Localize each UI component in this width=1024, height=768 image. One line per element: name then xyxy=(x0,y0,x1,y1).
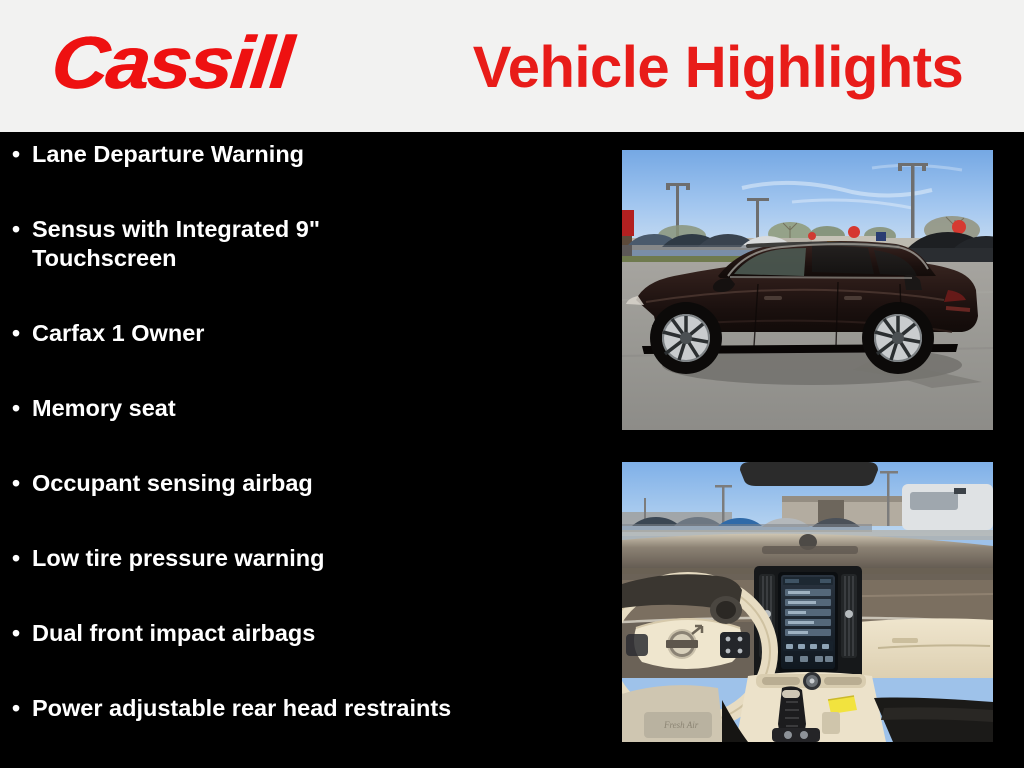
bullet-icon: • xyxy=(12,319,32,348)
list-item: • Memory seat xyxy=(0,394,600,423)
highlight-label: Carfax 1 Owner xyxy=(32,319,432,348)
vehicle-exterior-illustration xyxy=(622,150,993,430)
svg-text:Fresh Air: Fresh Air xyxy=(663,720,699,730)
list-item: • Power adjustable rear head restraints xyxy=(0,694,600,723)
bullet-icon: • xyxy=(12,694,32,723)
highlight-label: Power adjustable rear head restraints xyxy=(32,694,592,723)
slide-header: Cassill Vehicle Highlights xyxy=(0,0,1024,132)
bullet-icon: • xyxy=(12,140,32,169)
vehicle-interior-photo: Fresh Air xyxy=(622,462,993,742)
vehicle-exterior-photo xyxy=(622,150,993,430)
highlight-label: Sensus with Integrated 9" Touchscreen xyxy=(32,215,432,273)
vehicle-highlights-slide: Cassill Vehicle Highlights • Lane Depart… xyxy=(0,0,1024,768)
highlight-label: Occupant sensing airbag xyxy=(32,469,432,498)
vehicle-interior-illustration: Fresh Air xyxy=(622,462,993,742)
cassill-logo-wordmark: Cassill xyxy=(48,26,294,100)
highlight-label: Lane Departure Warning xyxy=(32,140,432,169)
list-item: • Low tire pressure warning xyxy=(0,544,600,573)
list-item: • Lane Departure Warning xyxy=(0,140,600,169)
bullet-icon: • xyxy=(12,394,32,423)
highlight-label: Memory seat xyxy=(32,394,432,423)
highlight-label: Dual front impact airbags xyxy=(32,619,432,648)
vehicle-highlights-list: • Lane Departure Warning • Sensus with I… xyxy=(0,140,600,760)
bullet-icon: • xyxy=(12,619,32,648)
bullet-icon: • xyxy=(12,544,32,573)
list-item: • Dual front impact airbags xyxy=(0,619,600,648)
page-title: Vehicle Highlights xyxy=(440,28,996,106)
highlight-label: Low tire pressure warning xyxy=(32,544,432,573)
cassill-logo: Cassill xyxy=(52,22,352,104)
list-item: • Occupant sensing airbag xyxy=(0,469,600,498)
list-item: • Carfax 1 Owner xyxy=(0,319,600,348)
list-item: • Sensus with Integrated 9" Touchscreen xyxy=(0,215,600,273)
bullet-icon: • xyxy=(12,469,32,498)
bullet-icon: • xyxy=(12,215,32,244)
